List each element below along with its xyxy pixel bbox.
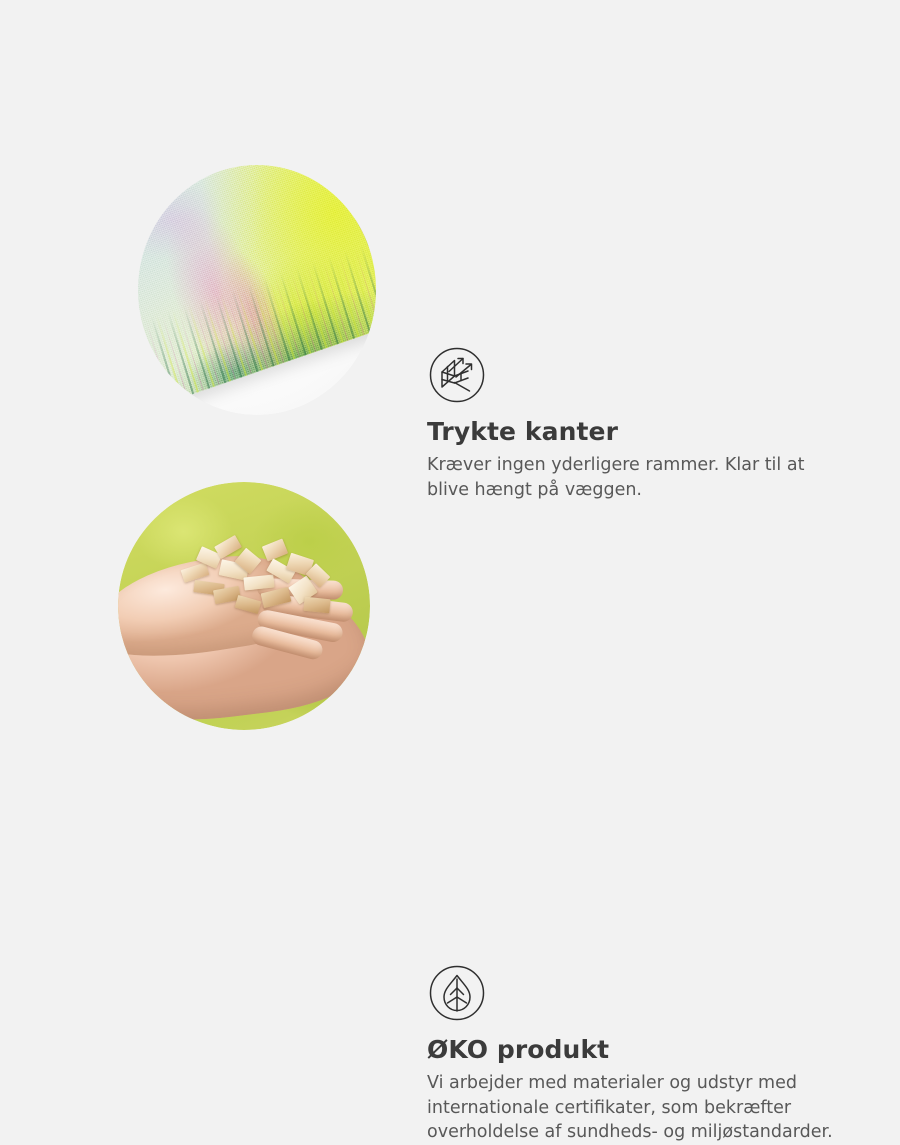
wood-chip <box>235 595 262 614</box>
feature-title-eco: ØKO produkt <box>427 1036 847 1065</box>
hands-illustration <box>118 482 370 730</box>
wood-chip <box>243 574 274 590</box>
wood-chips-group <box>176 536 336 632</box>
feature-block-eco: ØKO produkt Vi arbejder med materialer o… <box>0 470 900 750</box>
feature-title-printed-edges: Trykte kanter <box>427 418 847 447</box>
feature-block-printed-edges: Trykte kanter Kræver ingen yderligere ra… <box>0 150 900 440</box>
wood-chip <box>261 587 292 608</box>
feature-highlights-page: Trykte kanter Kræver ingen yderligere ra… <box>0 0 900 900</box>
wrapped-canvas-edge-icon <box>428 346 486 404</box>
eco-hands-wood-chips-image <box>118 482 370 730</box>
wood-chip <box>214 535 242 559</box>
eco-text-column: ØKO produkt Vi arbejder med materialer o… <box>427 1036 847 1145</box>
wood-chip <box>303 597 330 614</box>
canvas-printed-face <box>138 165 376 405</box>
wood-chip <box>262 538 288 561</box>
canvas-edge-product-image <box>138 165 376 415</box>
canvas-corner-illustration <box>138 165 376 415</box>
feature-description-eco: Vi arbejder med materialer og udstyr med… <box>427 1071 847 1145</box>
leaf-icon <box>428 964 486 1022</box>
